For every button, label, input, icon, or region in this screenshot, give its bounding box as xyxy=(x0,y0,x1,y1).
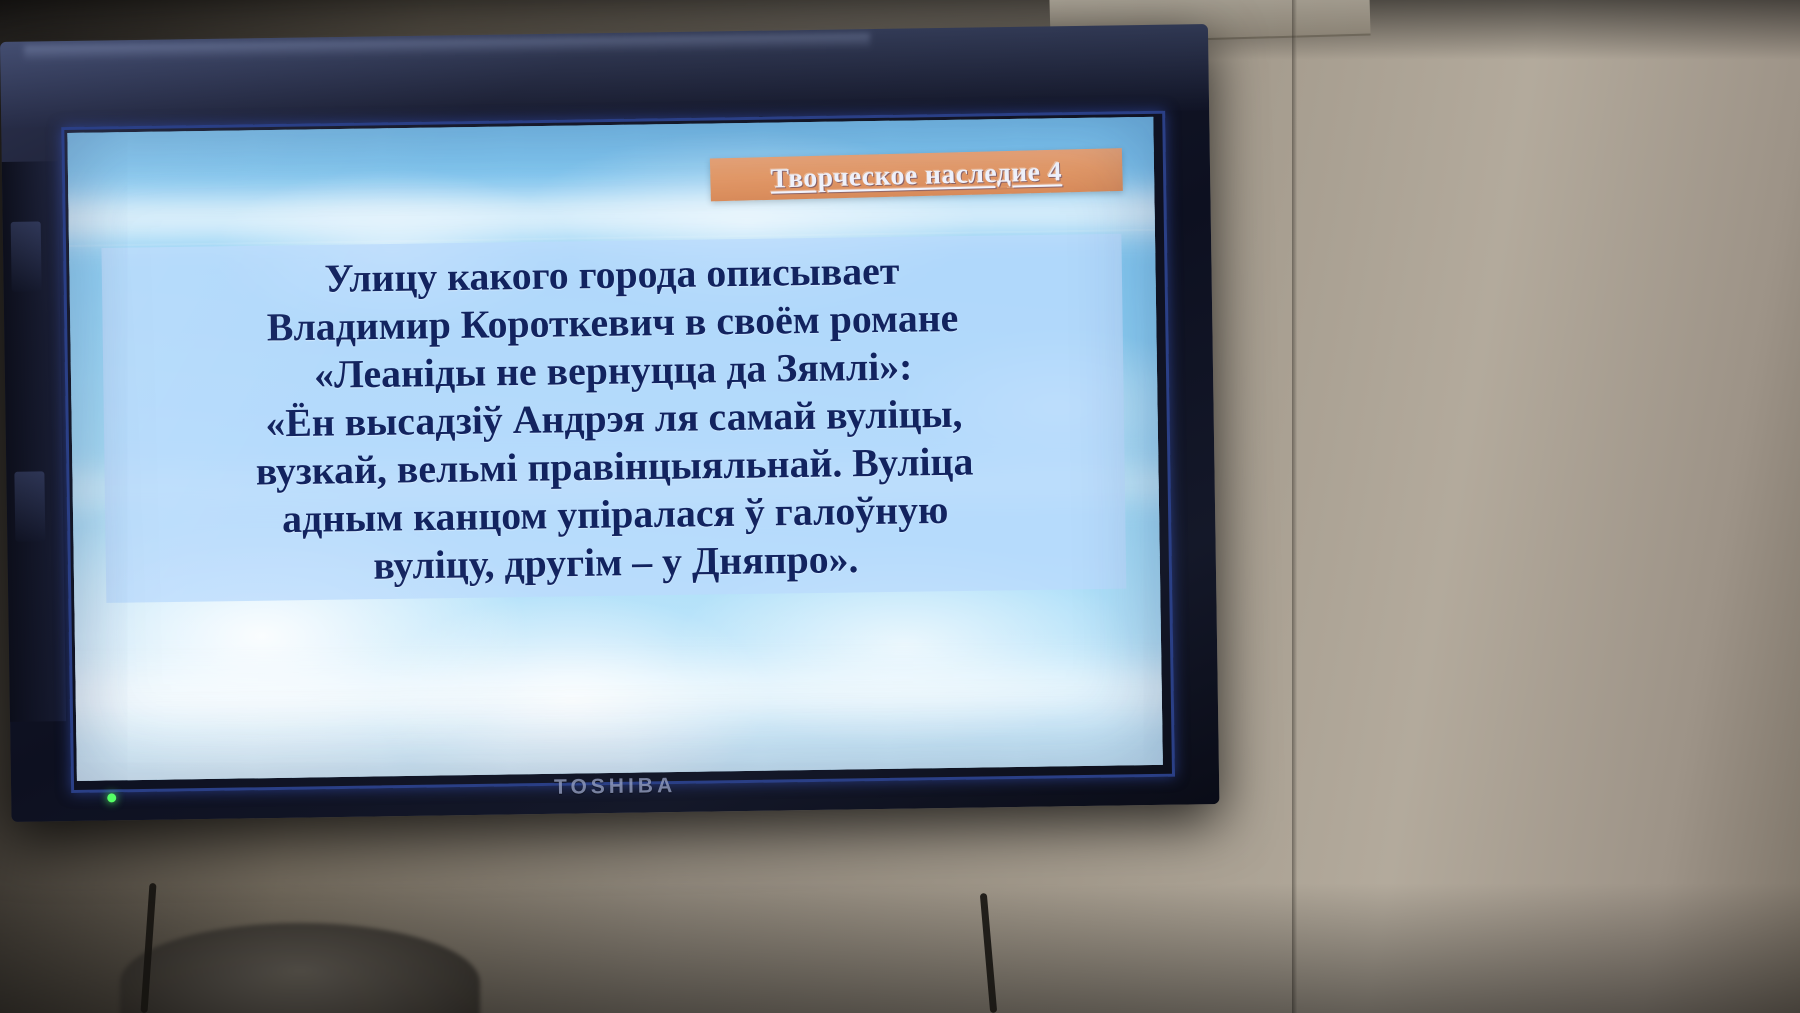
tv-side-vent-lower xyxy=(14,471,45,541)
tv-side-vent-upper xyxy=(11,221,42,291)
photo-scene: Творческое наследие 4 Улицу какого город… xyxy=(0,0,1800,1013)
slide-title-text: Творческое наследие 4 xyxy=(770,155,1062,194)
cloud-band-bottom xyxy=(67,645,1162,744)
tv-screen: Творческое наследие 4 Улицу какого город… xyxy=(67,117,1162,781)
presentation-slide: Творческое наследие 4 Улицу какого город… xyxy=(67,117,1162,781)
wall-seam xyxy=(1292,0,1297,1013)
power-led-indicator xyxy=(107,793,116,802)
television: Творческое наследие 4 Улицу какого город… xyxy=(0,24,1219,822)
question-text-box: Улицу какого города описывает Владимир К… xyxy=(101,234,1126,603)
